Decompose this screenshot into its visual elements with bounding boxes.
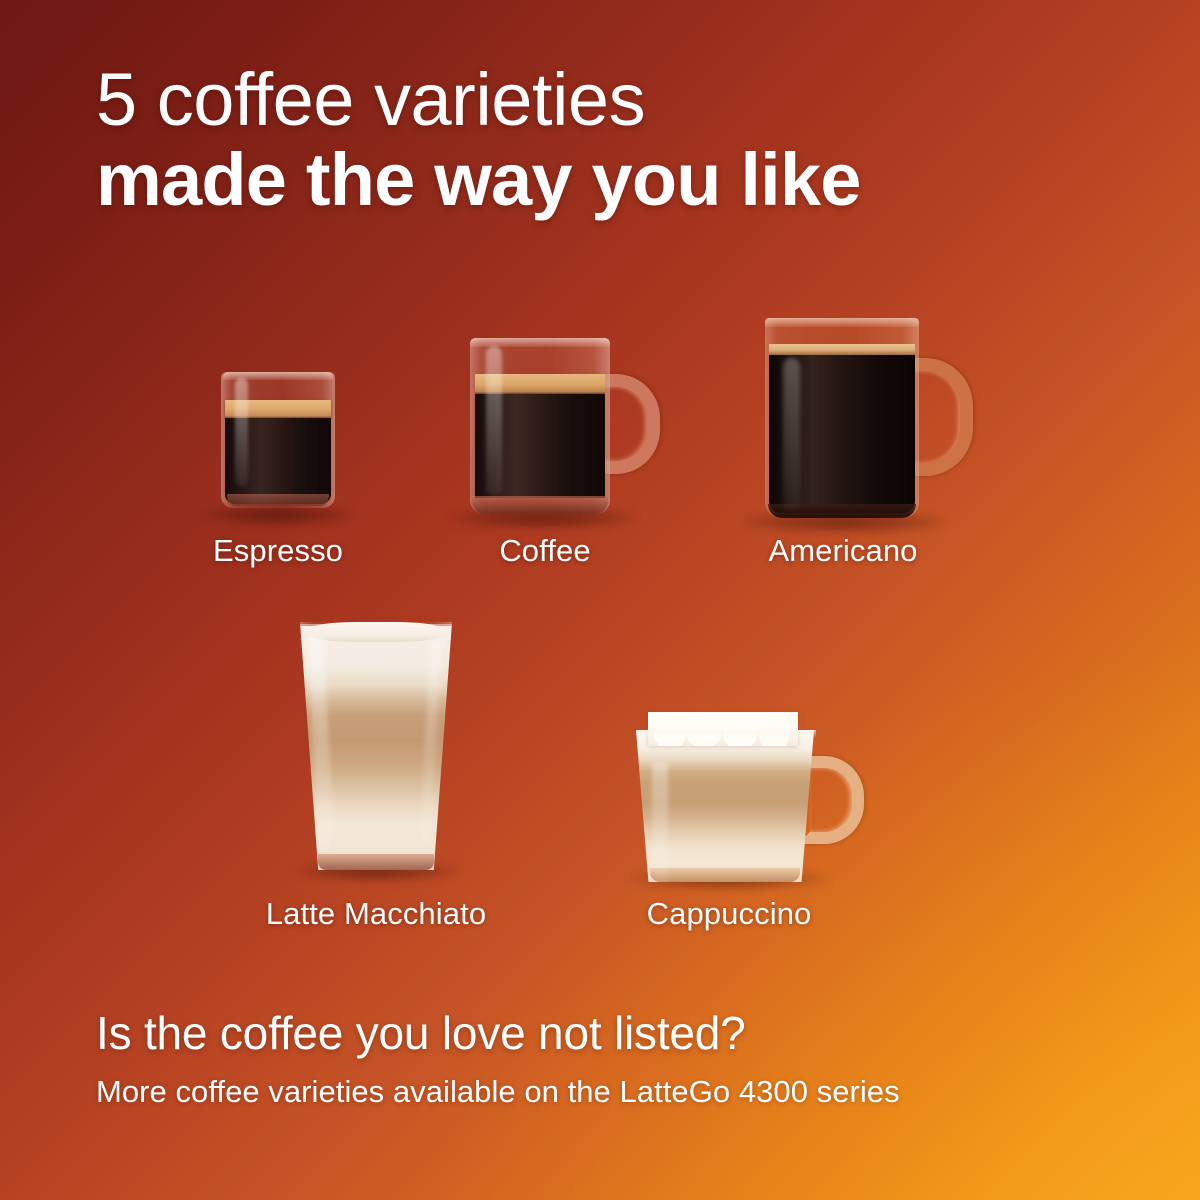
promo-poster: 5 coffee varieties made the way you like… [0,0,1200,1200]
cappuccino-cup-base [650,868,800,882]
espresso-glass-base [227,494,329,506]
footer-block: Is the coffee you love not listed? More … [96,1006,1116,1110]
cappuccino-cup-rim [638,730,816,737]
drink-cappuccino [636,712,864,884]
headline-line-2: made the way you like [96,138,1126,222]
cappuccino-cup-highlight [652,762,668,882]
latte-glass-base [318,854,434,870]
drink-label-americano: Americano [623,533,1063,569]
americano-mug-highlight [783,358,800,510]
espresso-glass-body [221,372,335,508]
coffee-mug-body [470,338,610,514]
cappuccino-cup-icon [636,712,864,884]
latte-glass-rim [300,624,452,631]
footer-question: Is the coffee you love not listed? [96,1006,1116,1060]
coffee-mug-base [472,496,608,514]
headline-line-1: 5 coffee varieties [96,62,1126,138]
coffee-mug-highlight [486,346,502,496]
drink-coffee [470,338,660,520]
footer-subtext: More coffee varieties available on the L… [96,1074,1116,1110]
drink-label-cappuccino: Cappuccino [509,896,949,932]
espresso-glass-icon [219,372,337,514]
latte-glass-body [300,622,452,870]
americano-crema-layer [769,344,915,355]
americano-mug-rim [765,318,919,327]
drink-espresso [219,372,337,514]
cappuccino-cup-body [636,730,814,882]
espresso-glass-highlight [235,378,248,486]
latte-macchiato-glass-icon [300,622,452,874]
coffee-mug-icon [470,338,660,520]
americano-mug-icon [765,318,973,524]
headline-block: 5 coffee varieties made the way you like [96,62,1126,223]
americano-mug-body [765,318,919,518]
drink-latte-macchiato [300,622,452,874]
cappuccino-foam-dome [648,712,798,746]
drink-americano [765,318,973,524]
